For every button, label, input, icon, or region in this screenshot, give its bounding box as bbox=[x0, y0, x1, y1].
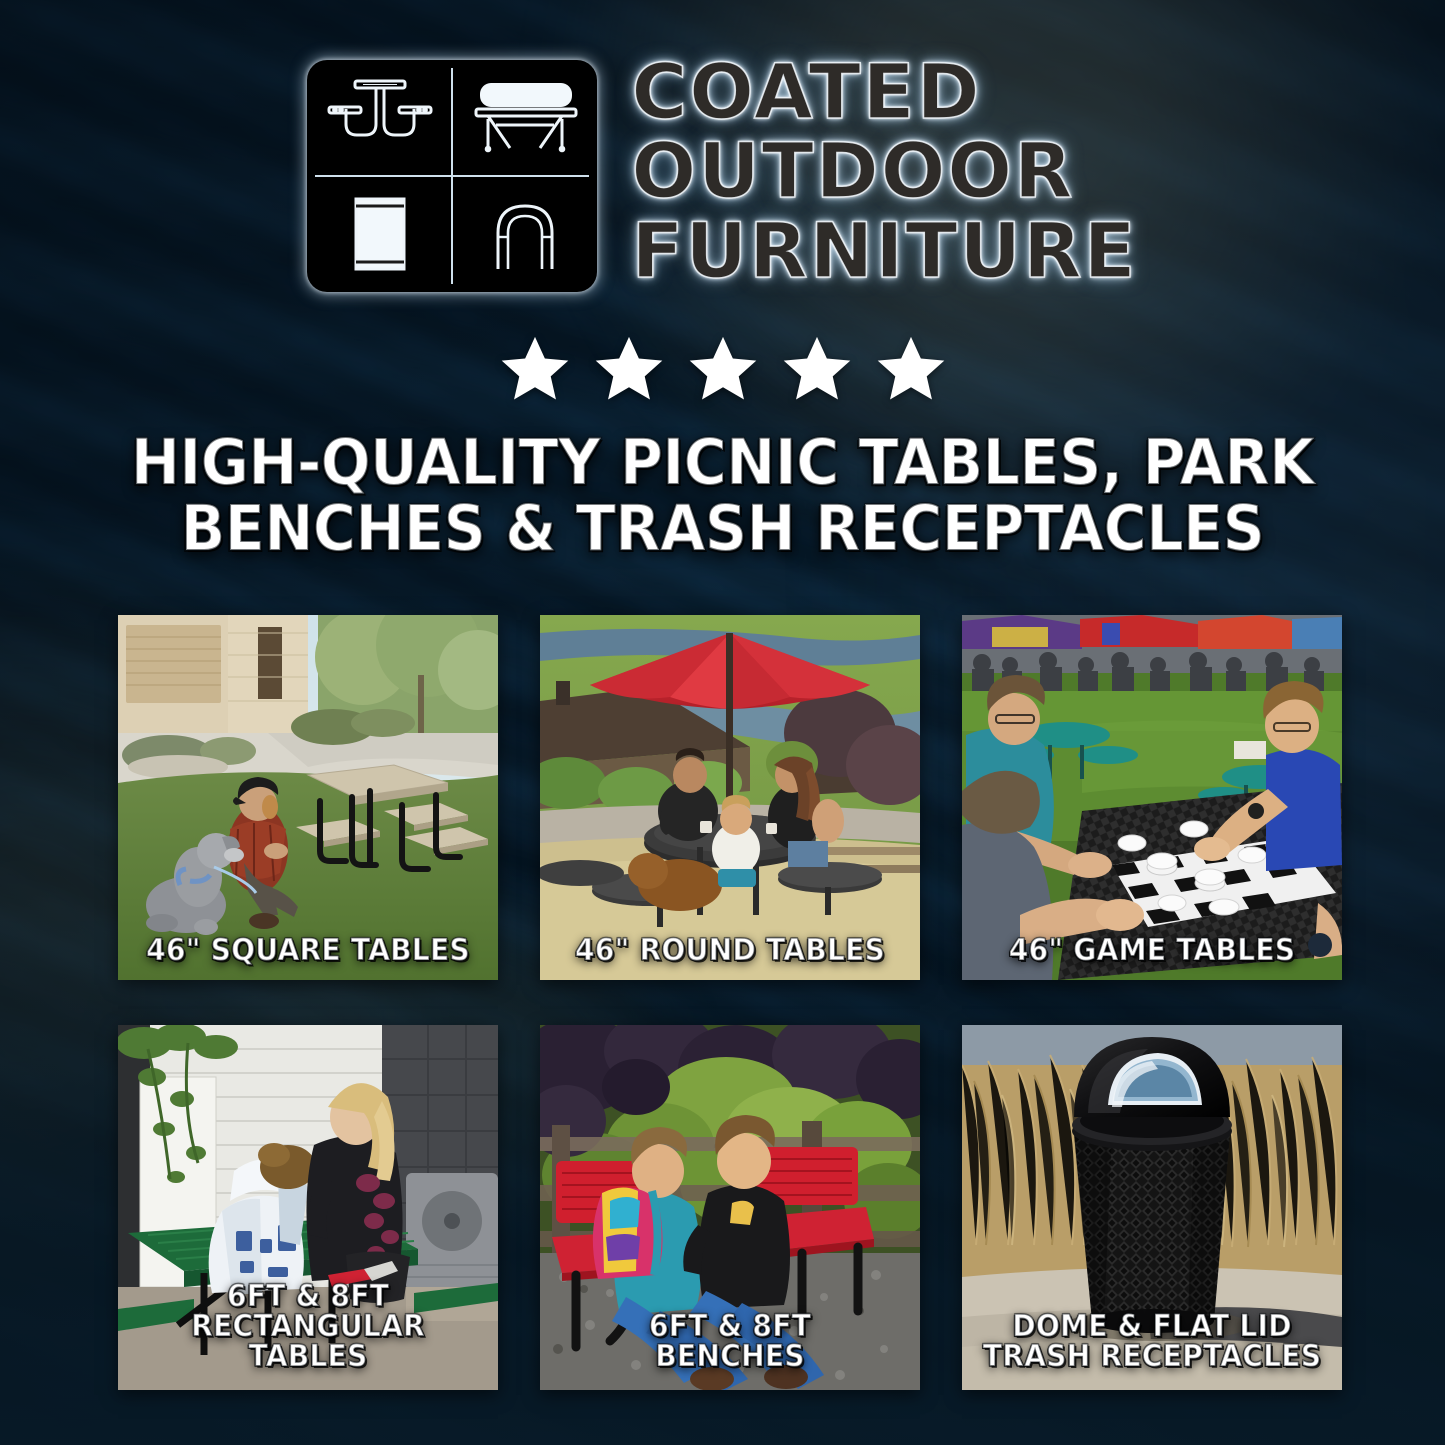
caption-line-1: 6FT & 8FT bbox=[557, 1312, 903, 1342]
trash-receptacle-icon bbox=[307, 176, 452, 292]
brand-line-1: COATED bbox=[631, 56, 1137, 127]
product-tile-round-tables[interactable]: 46" ROUND TABLES bbox=[540, 615, 920, 980]
page-headline: HIGH-QUALITY PICNIC TABLES, PARK BENCHES… bbox=[106, 430, 1338, 561]
product-grid: 46" SQUARE TABLES bbox=[118, 615, 1343, 1390]
tile-caption: 6FT & 8FT BENCHES bbox=[551, 1312, 908, 1372]
tile-caption: 46" GAME TABLES bbox=[973, 936, 1330, 966]
tile-caption: 6FT & 8FT RECTANGULAR TABLES bbox=[129, 1282, 486, 1372]
caption-line-1: DOME & FLAT LID bbox=[979, 1312, 1325, 1342]
picnic-table-front-icon bbox=[307, 60, 452, 176]
bike-rack-arch-icon bbox=[452, 176, 597, 292]
product-tile-game-tables[interactable]: 46" GAME TABLES bbox=[962, 615, 1342, 980]
headline-line-1: HIGH-QUALITY PICNIC TABLES, PARK bbox=[106, 430, 1338, 496]
star-rating bbox=[0, 332, 1445, 406]
brand-line-3: FURNITURE bbox=[631, 215, 1137, 286]
caption-line-1: 46" ROUND TABLES bbox=[557, 936, 903, 966]
star-icon bbox=[780, 332, 854, 406]
star-icon bbox=[874, 332, 948, 406]
caption-line-1: 46" GAME TABLES bbox=[979, 936, 1325, 966]
brand-line-2: OUTDOOR bbox=[631, 135, 1137, 206]
tile-caption: DOME & FLAT LID TRASH RECEPTACLES bbox=[973, 1312, 1330, 1372]
caption-line-1: 6FT & 8FT bbox=[135, 1282, 481, 1312]
tile-caption: 46" SQUARE TABLES bbox=[129, 936, 486, 966]
headline-line-2: BENCHES & TRASH RECEPTACLES bbox=[106, 496, 1338, 562]
photo-round-tables bbox=[540, 615, 920, 980]
star-icon bbox=[686, 332, 760, 406]
caption-line-2: TRASH RECEPTACLES bbox=[979, 1342, 1325, 1372]
tile-caption: 46" ROUND TABLES bbox=[551, 936, 908, 966]
product-tile-rectangular-tables[interactable]: 6FT & 8FT RECTANGULAR TABLES bbox=[118, 1025, 498, 1390]
brand-header: COATED OUTDOOR FURNITURE bbox=[0, 60, 1445, 292]
brand-name: COATED OUTDOOR FURNITURE bbox=[631, 56, 1137, 286]
caption-line-1: 46" SQUARE TABLES bbox=[135, 936, 481, 966]
caption-line-2: BENCHES bbox=[557, 1342, 903, 1372]
product-tile-benches[interactable]: 6FT & 8FT BENCHES bbox=[540, 1025, 920, 1390]
bench-side-icon bbox=[452, 60, 597, 176]
star-icon bbox=[592, 332, 666, 406]
product-tile-square-tables[interactable]: 46" SQUARE TABLES bbox=[118, 615, 498, 980]
marketing-poster: COATED OUTDOOR FURNITURE HIGH-QUALITY PI… bbox=[0, 0, 1445, 1445]
photo-game-tables bbox=[962, 615, 1342, 980]
star-icon bbox=[498, 332, 572, 406]
caption-line-2: RECTANGULAR TABLES bbox=[135, 1312, 481, 1372]
logo-mark bbox=[307, 60, 597, 292]
product-tile-trash-receptacles[interactable]: DOME & FLAT LID TRASH RECEPTACLES bbox=[962, 1025, 1342, 1390]
photo-square-tables bbox=[118, 615, 498, 980]
